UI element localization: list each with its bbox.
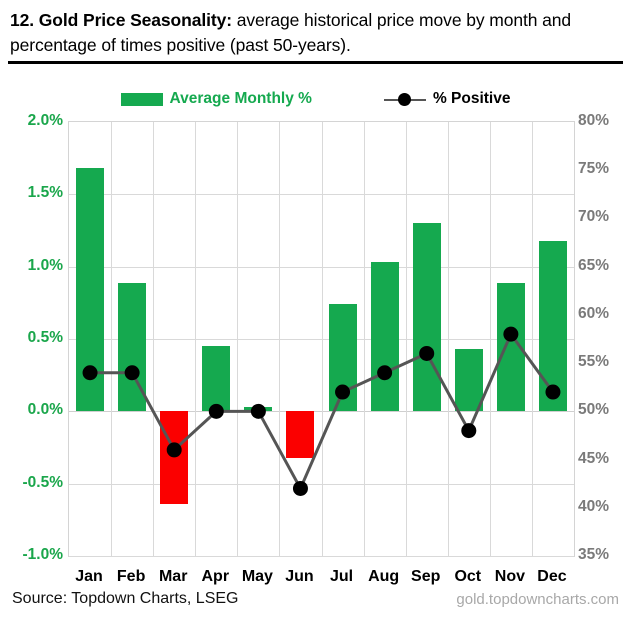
y-axis-left-tick: 0.5% xyxy=(3,329,63,347)
y-axis-left-tick: -0.5% xyxy=(3,474,63,492)
y-axis-right-tick: 35% xyxy=(578,546,631,564)
chart-footer: Source: Topdown Charts, LSEG gold.topdow… xyxy=(0,588,631,622)
y-axis-right-tick: 65% xyxy=(578,257,631,275)
legend-line-marker-icon xyxy=(384,93,426,106)
y-axis-right-tick: 40% xyxy=(578,498,631,516)
x-axis-tick-feb: Feb xyxy=(117,568,145,586)
data-point-feb xyxy=(125,365,140,380)
x-axis-tick-jan: Jan xyxy=(75,568,103,586)
x-axis-tick-may: May xyxy=(242,568,273,586)
legend-item-percent-positive: % Positive xyxy=(384,90,511,108)
legend-item-average-monthly: Average Monthly % xyxy=(121,90,312,108)
line-path-percent-positive xyxy=(90,334,553,488)
data-point-nov xyxy=(503,327,518,342)
y-axis-right-tick: 70% xyxy=(578,208,631,226)
gridline-horizontal xyxy=(69,556,574,557)
data-point-may xyxy=(251,404,266,419)
data-point-jun xyxy=(293,481,308,496)
x-axis-tick-aug: Aug xyxy=(368,568,399,586)
title-block: 12. Gold Price Seasonality: average hist… xyxy=(0,0,631,56)
title-divider xyxy=(8,61,623,64)
title-headline: Gold Price Seasonality: xyxy=(39,10,232,30)
watermark-label: gold.topdowncharts.com xyxy=(456,591,619,608)
x-axis-tick-nov: Nov xyxy=(495,568,525,586)
x-axis-tick-dec: Dec xyxy=(537,568,566,586)
y-axis-right-tick: 75% xyxy=(578,160,631,178)
percent-positive-line-series xyxy=(69,122,574,556)
legend-bar-swatch-icon xyxy=(121,93,163,106)
data-point-oct xyxy=(461,423,476,438)
y-axis-right-tick: 45% xyxy=(578,450,631,468)
y-axis-right-tick: 50% xyxy=(578,401,631,419)
y-axis-left-tick: 1.5% xyxy=(3,184,63,202)
y-axis-left-tick: -1.0% xyxy=(3,546,63,564)
x-axis-tick-jun: Jun xyxy=(285,568,313,586)
data-point-dec xyxy=(545,385,560,400)
plot-region xyxy=(68,121,575,557)
title-number: 12. xyxy=(10,10,34,30)
data-point-sep xyxy=(419,346,434,361)
data-point-aug xyxy=(377,365,392,380)
data-point-jan xyxy=(83,365,98,380)
source-label: Source: Topdown Charts, LSEG xyxy=(12,590,239,608)
y-axis-left-tick: 2.0% xyxy=(3,112,63,130)
data-point-apr xyxy=(209,404,224,419)
data-point-mar xyxy=(167,442,182,457)
x-axis-tick-mar: Mar xyxy=(159,568,187,586)
legend-item-label: Average Monthly % xyxy=(170,90,312,108)
x-axis-tick-oct: Oct xyxy=(454,568,481,586)
legend-line-dot xyxy=(398,93,411,106)
chart-area: 2.0%1.5%1.0%0.5%0.0%-0.5%-1.0%80%75%70%6… xyxy=(0,110,631,565)
legend-item-label: % Positive xyxy=(433,90,511,108)
y-axis-left-tick: 1.0% xyxy=(3,257,63,275)
y-axis-left-tick: 0.0% xyxy=(3,401,63,419)
x-axis-tick-jul: Jul xyxy=(330,568,353,586)
page-title: 12. Gold Price Seasonality: average hist… xyxy=(10,8,621,58)
x-axis-tick-apr: Apr xyxy=(202,568,230,586)
y-axis-right-tick: 55% xyxy=(578,353,631,371)
y-axis-right-tick: 60% xyxy=(578,305,631,323)
x-axis-tick-sep: Sep xyxy=(411,568,440,586)
chart-legend: Average Monthly % % Positive xyxy=(0,86,631,112)
data-point-jul xyxy=(335,385,350,400)
y-axis-right-tick: 80% xyxy=(578,112,631,130)
